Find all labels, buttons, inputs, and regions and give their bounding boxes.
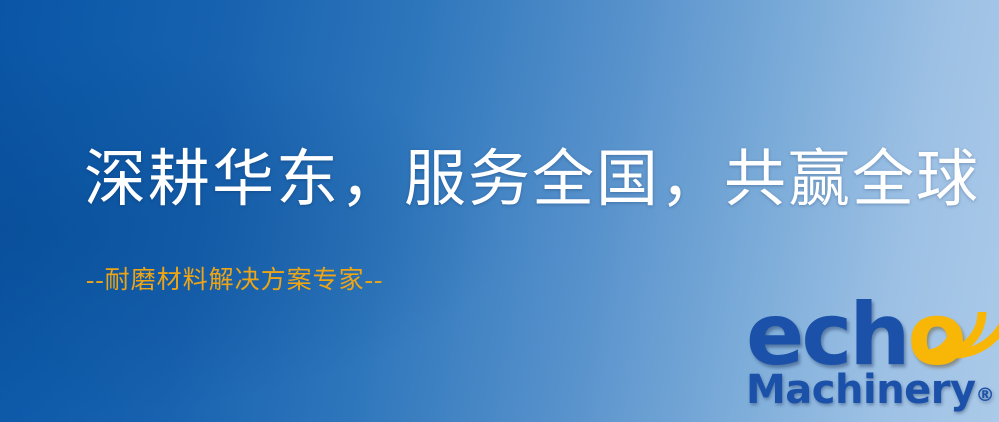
logo-tagline-text: Machinery: [746, 367, 976, 413]
signal-waves-icon: [920, 294, 999, 366]
promo-banner: 深耕华东，服务全国，共赢全球 --耐磨材料解决方案专家-- echo Machi…: [0, 0, 999, 422]
registered-trademark-icon: ®: [976, 384, 995, 406]
logo-tagline: Machinery®: [746, 370, 995, 410]
banner-subtitle: --耐磨材料解决方案专家--: [86, 266, 383, 296]
logo-wordmark: echo: [744, 296, 996, 378]
echo-machinery-logo: echo Machinery®: [744, 296, 996, 420]
banner-headline: 深耕华东，服务全国，共赢全球: [84, 146, 980, 215]
